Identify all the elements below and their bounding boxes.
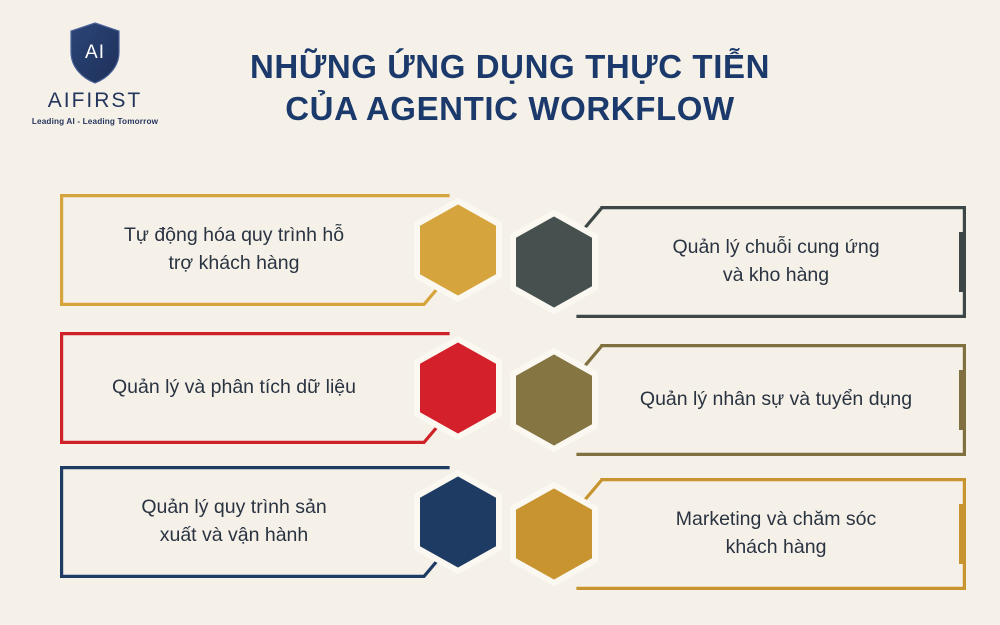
hexagon-marker: [508, 210, 600, 314]
page-title: NHỮNG ỨNG DỤNG THỰC TIỄN CỦA AGENTIC WOR…: [190, 46, 830, 130]
card-phan-tich-du-lieu[interactable]: Quản lý và phân tích dữ liệu: [60, 332, 520, 444]
card-label: Quản lý nhân sự và tuyển dụng: [604, 344, 948, 456]
hexagon-marker: [412, 470, 504, 574]
card-marketing[interactable]: Marketing và chăm sóckhách hàng: [508, 478, 968, 590]
card-label-line-2: và kho hàng: [672, 262, 879, 290]
hexagon-marker: [508, 348, 600, 452]
shield-icon: AI: [68, 22, 122, 84]
page-title-line-1: NHỮNG ỨNG DỤNG THỰC TIỄN: [190, 46, 830, 88]
card-chuoi-cung-ung[interactable]: Quản lý chuỗi cung ứngvà kho hàng: [508, 206, 968, 318]
card-label-line-2: khách hàng: [676, 534, 877, 562]
card-label: Quản lý và phân tích dữ liệu: [64, 332, 404, 444]
card-edge-accent: [959, 370, 966, 430]
hexagon-marker: [508, 482, 600, 586]
card-label: Quản lý chuỗi cung ứngvà kho hàng: [604, 206, 948, 318]
card-label-line-1: Quản lý chuỗi cung ứng: [672, 234, 879, 262]
page-title-line-2: CỦA AGENTIC WORKFLOW: [190, 88, 830, 130]
card-label-line-1: Quản lý và phân tích dữ liệu: [112, 374, 356, 402]
shield-monogram: AI: [85, 42, 105, 63]
card-label-line-2: trợ khách hàng: [124, 250, 344, 278]
hexagon-marker: [412, 198, 504, 302]
card-label: Marketing và chăm sóckhách hàng: [604, 478, 948, 590]
card-label-line-1: Marketing và chăm sóc: [676, 506, 877, 534]
card-label: Tự động hóa quy trình hỗtrợ khách hàng: [64, 194, 404, 306]
brand-logo: AI AIFIRST Leading AI - Leading Tomorrow: [20, 22, 170, 137]
card-nhan-su-tuyen-dung[interactable]: Quản lý nhân sự và tuyển dụng: [508, 344, 968, 456]
card-edge-accent: [959, 232, 966, 292]
card-ho-tro-khach-hang[interactable]: Tự động hóa quy trình hỗtrợ khách hàng: [60, 194, 520, 306]
brand-name: AIFIRST: [20, 90, 170, 111]
card-label-line-1: Quản lý quy trình sản: [141, 494, 326, 522]
card-label-line-1: Tự động hóa quy trình hỗ: [124, 222, 344, 250]
card-label-line-1: Quản lý nhân sự và tuyển dụng: [640, 386, 912, 414]
card-label: Quản lý quy trình sảnxuất và vận hành: [64, 466, 404, 578]
card-edge-accent: [959, 504, 966, 564]
card-label-line-2: xuất và vận hành: [141, 522, 326, 550]
card-quy-trinh-san-xuat[interactable]: Quản lý quy trình sảnxuất và vận hành: [60, 466, 520, 578]
brand-tagline: Leading AI - Leading Tomorrow: [20, 118, 170, 126]
hexagon-marker: [412, 336, 504, 440]
